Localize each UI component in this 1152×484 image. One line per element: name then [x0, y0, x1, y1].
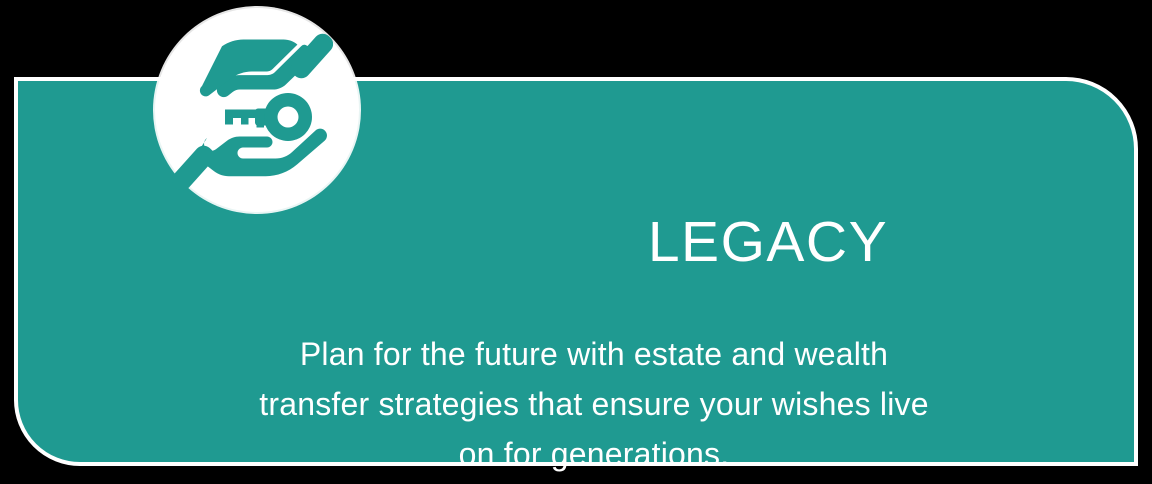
card-description: Plan for the future with estate and weal… — [114, 329, 1074, 479]
legacy-card-stage: LEGACY Plan for the future with estate a… — [0, 0, 1152, 484]
description-line-1: Plan for the future with estate and weal… — [114, 329, 1074, 379]
icon-badge — [155, 8, 359, 212]
description-line-3: on for generations. — [114, 429, 1074, 479]
hands-holding-key-icon — [155, 8, 359, 212]
page-title: LEGACY — [378, 209, 1152, 275]
description-line-2: transfer strategies that ensure your wis… — [114, 379, 1074, 429]
